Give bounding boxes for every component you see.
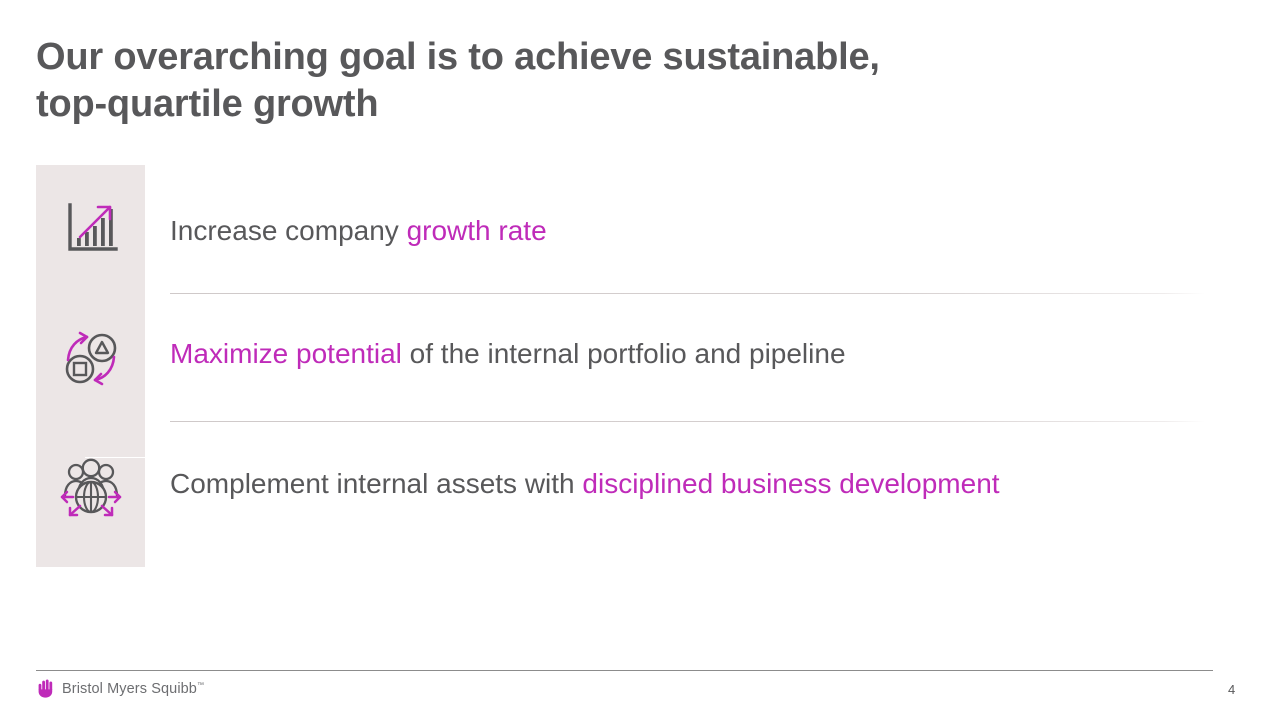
- icon-panel: [36, 165, 145, 567]
- row-3-lead-text: Complement internal assets with: [170, 468, 582, 499]
- panel-divider-1: [85, 457, 170, 458]
- content-rows: Increase company growth rate Maximize po…: [170, 165, 1210, 567]
- people-globe-arrows-icon: [57, 457, 125, 524]
- icon-cell-people-globe: [36, 425, 145, 555]
- row-3-accent-text: disciplined business development: [582, 468, 999, 499]
- growth-bar-chart-arrow-icon: [60, 197, 122, 264]
- row-2-accent-text: Maximize potential: [170, 338, 402, 369]
- row-divider-1: [170, 293, 1205, 294]
- footer-divider: [36, 670, 1213, 671]
- cycle-shapes-arrows-icon: [60, 327, 122, 394]
- row-divider-2: [170, 421, 1205, 422]
- icon-cell-growth: [36, 165, 145, 295]
- row-1-lead-text: Increase company: [170, 215, 407, 246]
- brand-logo-text: Bristol Myers Squibb™: [62, 681, 204, 697]
- page-title: Our overarching goal is to achieve susta…: [36, 34, 1136, 128]
- row-text-1: Increase company growth rate: [170, 214, 547, 248]
- panel-divider-2: [85, 584, 170, 585]
- trademark-symbol: ™: [197, 682, 204, 689]
- row-text-2: Maximize potential of the internal portf…: [170, 337, 846, 371]
- row-text-3: Complement internal assets with discipli…: [170, 467, 1000, 501]
- page-number: 4: [1228, 682, 1235, 697]
- icon-cell-cycle: [36, 295, 145, 425]
- row-2-trail-text: of the internal portfolio and pipeline: [402, 338, 846, 369]
- brand-name: Bristol Myers Squibb: [62, 681, 197, 697]
- slide: Our overarching goal is to achieve susta…: [0, 0, 1280, 719]
- row-1-accent-text: growth rate: [407, 215, 547, 246]
- bms-hand-icon: [36, 678, 56, 699]
- brand-logo: Bristol Myers Squibb™: [36, 678, 204, 699]
